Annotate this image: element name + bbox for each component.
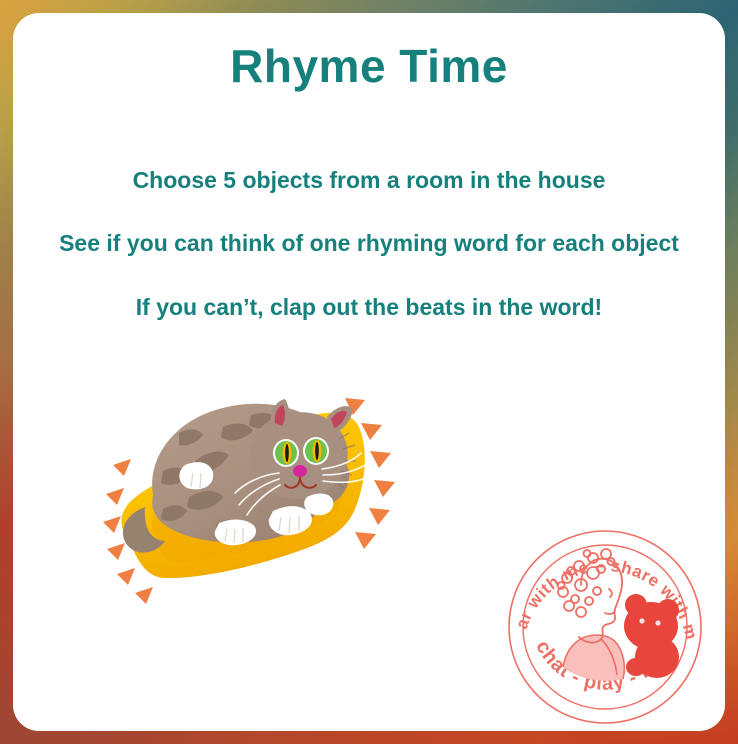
cat-nose bbox=[293, 465, 307, 477]
cat-eye-right bbox=[303, 437, 329, 465]
instruction-line-2: See if you can think of one rhyming word… bbox=[13, 232, 725, 255]
page-title: Rhyme Time bbox=[13, 43, 725, 89]
cat-on-cushion-illustration bbox=[93, 375, 403, 605]
instruction-line-1: Choose 5 objects from a room in the hous… bbox=[13, 169, 725, 192]
card-inner-surface: Rhyme Time Choose 5 objects from a room … bbox=[13, 13, 725, 731]
logo-bear-icon bbox=[624, 594, 679, 678]
bear-with-me-logo-stamp: bear with me – share with me chat - play… bbox=[505, 527, 705, 727]
cat-paw-hind bbox=[179, 462, 213, 489]
cat-eye-left bbox=[273, 439, 299, 467]
instruction-line-3: If you can’t, clap out the beats in the … bbox=[13, 296, 725, 319]
card-frame: Rhyme Time Choose 5 objects from a room … bbox=[0, 0, 738, 744]
